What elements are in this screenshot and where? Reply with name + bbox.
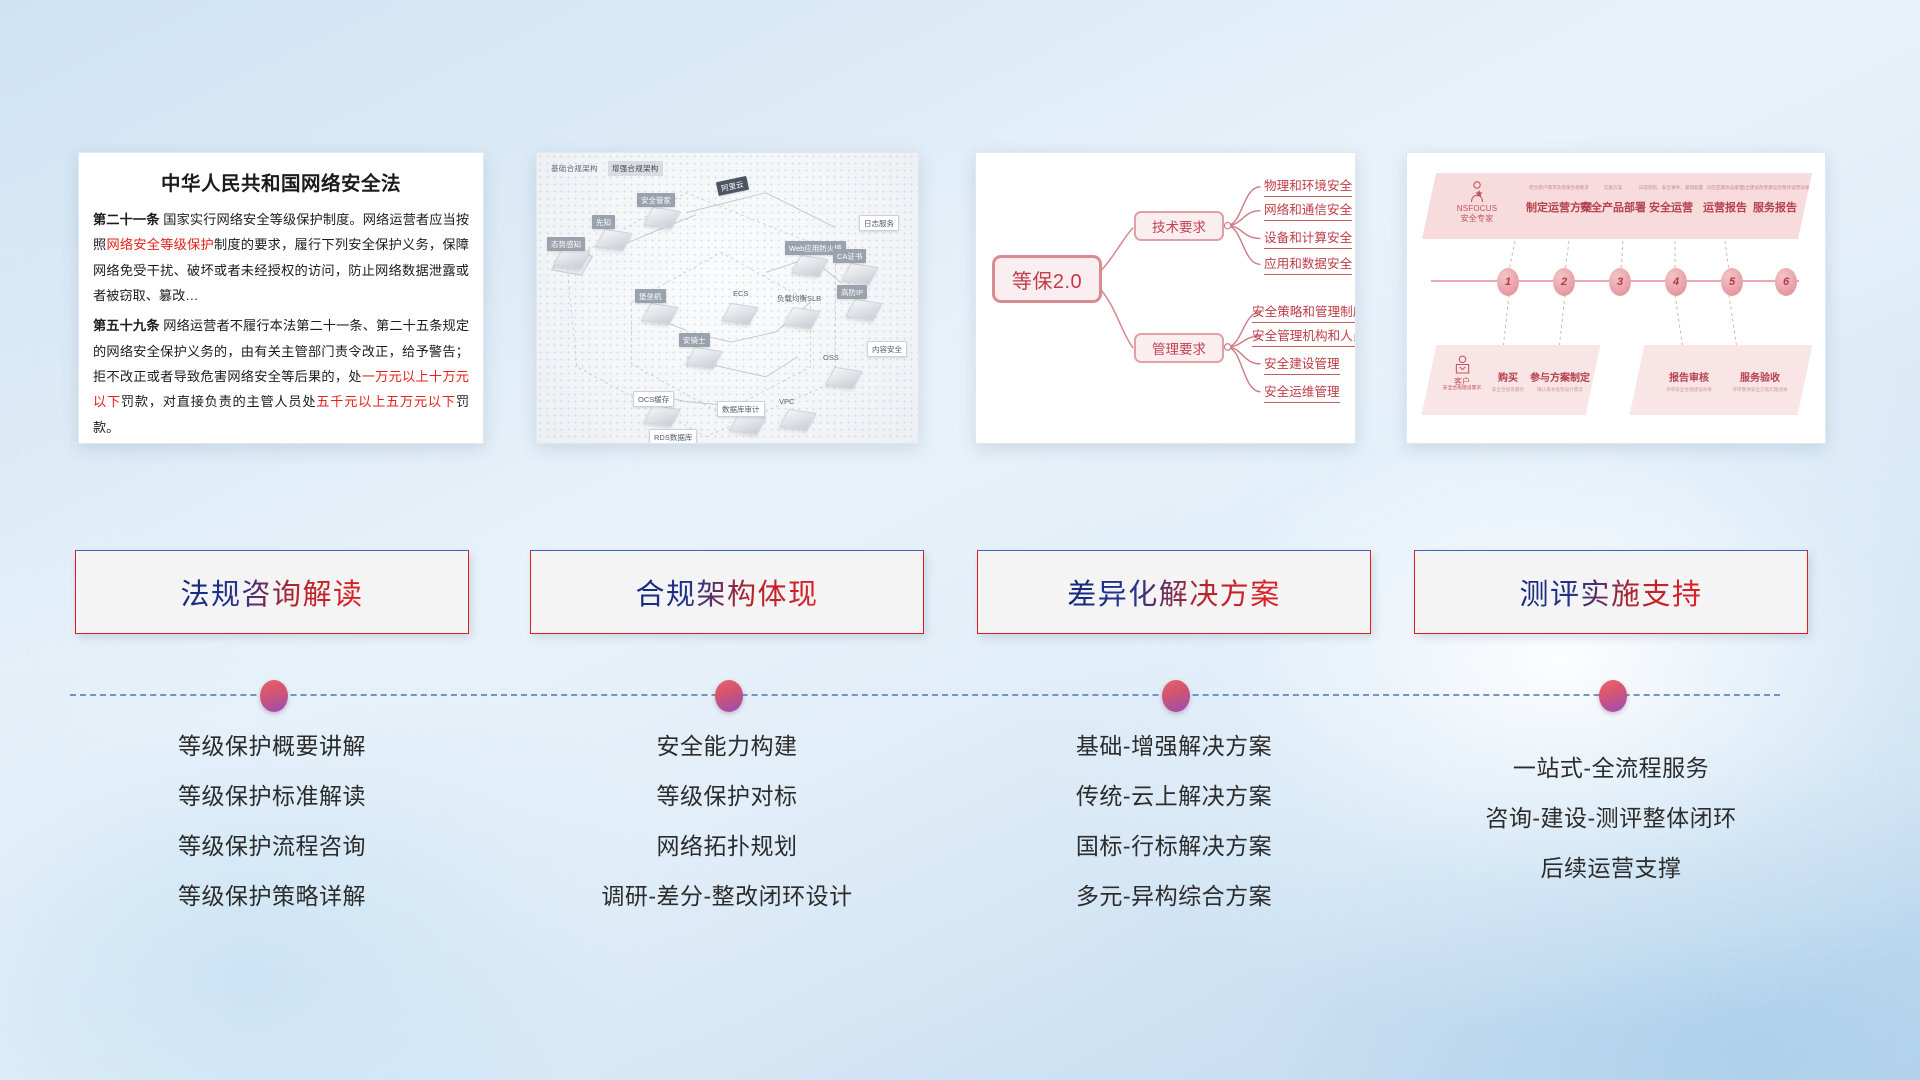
timeline-dot-4[interactable]: [1599, 680, 1627, 712]
list-item: 多元-异构综合方案: [977, 885, 1371, 908]
headline-label-1: 法规咨询解读: [180, 571, 363, 613]
arch-node-xianzhi: 先知: [592, 215, 615, 229]
nsfocus-axis-node-3: 3: [1609, 268, 1631, 296]
detail-column-1: 等级保护概要讲解 等级保护标准解读 等级保护流程咨询 等级保护策略详解: [75, 735, 469, 935]
customer-action-purchase: 购买 安全合规等服务: [1485, 369, 1531, 393]
card-compliance-architecture[interactable]: 基础合规架构 增强合规架构: [536, 152, 919, 444]
list-item: 等级保护概要讲解: [75, 735, 469, 758]
nsfocus-axis-node-5: 5: [1721, 268, 1743, 296]
mindmap-leaf-application-data: 应用和数据安全: [1264, 253, 1352, 275]
customer-label-line1: 客户: [1439, 377, 1485, 387]
law-article-number: 第二十一条: [93, 212, 160, 227]
arch-node-situational-awareness: 态势感知: [547, 237, 585, 251]
mindmap-leaf-security-policy: 安全策略和管理制度: [1252, 301, 1356, 323]
nsfocus-axis-node-2: 2: [1553, 268, 1575, 296]
nsfocus-customer-tray-right: 报告审核 评审安全合规建设效果 服务验收 评审整体安全方案实施效果: [1630, 345, 1813, 415]
headline-label-2: 合规架构体现: [635, 571, 818, 613]
detail-column-4: 一站式-全流程服务 咨询-建设-测评整体闭环 后续运营支撑: [1414, 757, 1808, 907]
mindmap-branch-management: 管理要求: [1134, 333, 1224, 363]
list-item: 后续运营支撑: [1414, 857, 1808, 880]
law-paragraph: 第五十九条 网络运营者不履行本法第二十一条、第二十五条规定的网络安全保护义务的，…: [93, 313, 469, 440]
arch-node-bastion-host: 堡垒机: [635, 289, 666, 303]
mindmap-root-node: 等保2.0: [992, 255, 1102, 303]
poster-canvas: 中华人民共和国网络安全法 第二十一条 国家实行网络安全等级保护制度。网络运营者应…: [0, 0, 1920, 1080]
arch-node-anqishi: 安骑士: [679, 333, 710, 347]
customer-action-plan-participation: 参与方案制定 确认基本框架设计需求: [1529, 369, 1591, 393]
mindmap-branch-technical: 技术要求: [1134, 211, 1224, 241]
list-item: 等级保护流程咨询: [75, 835, 469, 858]
list-item: 传统-云上解决方案: [977, 785, 1371, 808]
mindmap: 等保2.0 技术要求 物理和环境安全 网络和通信安全 设备和计算安全 应用和数据…: [976, 153, 1355, 443]
arch-node-vpc: VPC: [779, 397, 794, 406]
arch-node-slb: 负载均衡SLB: [777, 293, 821, 304]
nsfocus-axis-node-4: 4: [1665, 268, 1687, 296]
customer-action-plan-main: 参与方案制定: [1529, 369, 1591, 384]
screenshot-card-row: 中华人民共和国网络安全法 第二十一条 国家实行网络安全等级保护制度。网络运营者应…: [0, 0, 1920, 460]
mindmap-leaf-device-computing: 设备和计算安全: [1264, 227, 1352, 249]
headline-box-evaluation-support[interactable]: 测评实施支持: [1414, 550, 1808, 634]
customer-action-acceptance-sub: 评审整体安全方案实施效果: [1725, 387, 1795, 393]
customer-action-report-sub: 评审安全合规建设效果: [1659, 387, 1719, 393]
mindmap-leaf-security-org-personnel: 安全管理机构和人员: [1252, 325, 1356, 347]
detail-column-2: 安全能力构建 等级保护对标 网络拓扑规划 调研-差分-整改闭环设计: [530, 735, 924, 935]
customer-action-report-review: 报告审核 评审安全合规建设效果: [1659, 369, 1719, 393]
arch-node-content-security: 内容安全: [867, 341, 907, 357]
headline-box-differentiated-solution[interactable]: 差异化解决方案: [977, 550, 1371, 634]
arch-node-log-service: 日志服务: [859, 215, 899, 231]
law-paragraph: 第二十一条 国家实行网络安全等级保护制度。网络运营者应当按照网络安全等级保护制度…: [93, 207, 469, 308]
arch-node-ecs: ECS: [733, 289, 748, 298]
customer-label-line2: 安全合规建设需求: [1439, 386, 1485, 392]
customer-action-purchase-main: 购买: [1485, 369, 1531, 384]
detail-column-3: 基础-增强解决方案 传统-云上解决方案 国标-行标解决方案 多元-异构综合方案: [977, 735, 1371, 935]
mindmap-leaf-operations-management: 安全运维管理: [1264, 381, 1340, 403]
list-item: 等级保护标准解读: [75, 785, 469, 808]
customer-action-service-acceptance: 服务验收 评审整体安全方案实施效果: [1725, 369, 1795, 393]
nsfocus-axis-node-1: 1: [1497, 268, 1519, 296]
law-seg-highlight: 五千元以上五万元以下: [316, 394, 456, 409]
timeline-dot-3[interactable]: [1162, 680, 1190, 712]
law-seg: 罚款，对直接负责的主管人员处: [121, 394, 316, 409]
mindmap-leaf-physical-environment: 物理和环境安全: [1264, 175, 1352, 197]
list-item: 等级保护策略详解: [75, 885, 469, 908]
list-item: 咨询-建设-测评整体闭环: [1414, 807, 1808, 830]
customer-action-purchase-sub: 安全合规等服务: [1485, 387, 1531, 393]
nsfocus-timeline: NSFOCUS 安全专家 结合客户需求及等保合规要求 制定运营方案 实施方案 安…: [1407, 153, 1825, 443]
headline-box-compliance-architecture[interactable]: 合规架构体现: [530, 550, 924, 634]
customer-role: 客户 安全合规建设需求: [1439, 355, 1485, 392]
law-body: 第二十一条 国家实行网络安全等级保护制度。网络运营者应当按照网络安全等级保护制度…: [79, 207, 483, 440]
timeline-dot-1[interactable]: [260, 680, 288, 712]
mindmap-leaf-network-communication: 网络和通信安全: [1264, 199, 1352, 221]
nsfocus-axis: 1 2 3 4 5 6: [1431, 281, 1803, 283]
mindmap-leaf-construction-management: 安全建设管理: [1264, 353, 1340, 375]
card-dengbao-mindmap[interactable]: 等保2.0 技术要求 物理和环境安全 网络和通信安全 设备和计算安全 应用和数据…: [975, 152, 1356, 444]
card-nsfocus-service-timeline[interactable]: NSFOCUS 安全专家 结合客户需求及等保合规要求 制定运营方案 实施方案 安…: [1406, 152, 1826, 444]
customer-action-report-main: 报告审核: [1659, 369, 1719, 384]
law-title: 中华人民共和国网络安全法: [79, 167, 483, 196]
customer-action-acceptance-main: 服务验收: [1725, 369, 1795, 384]
arch-node-anti-ddos-ip: 高防IP: [837, 285, 867, 299]
headline-label-4: 测评实施支持: [1519, 571, 1702, 613]
customer-action-plan-sub: 确认基本框架设计需求: [1529, 387, 1591, 393]
list-item: 网络拓扑规划: [530, 835, 924, 858]
process-timeline: [70, 694, 1780, 696]
arch-node-database-audit: 数据库审计: [717, 401, 765, 417]
list-item: 调研-差分-整改闭环设计: [530, 885, 924, 908]
headline-label-3: 差异化解决方案: [1067, 571, 1281, 613]
list-item: 一站式-全流程服务: [1414, 757, 1808, 780]
law-article-number: 第五十九条: [93, 318, 160, 333]
law-seg-highlight: 网络安全等级保护: [106, 237, 214, 252]
list-item: 安全能力构建: [530, 735, 924, 758]
headline-box-regulation-consulting[interactable]: 法规咨询解读: [75, 550, 469, 634]
card-cybersecurity-law[interactable]: 中华人民共和国网络安全法 第二十一条 国家实行网络安全等级保护制度。网络运营者应…: [78, 152, 484, 444]
arch-node-oss: OSS: [823, 353, 839, 362]
customer-person-icon: [1454, 355, 1471, 374]
list-item: 基础-增强解决方案: [977, 735, 1371, 758]
arch-node-ca-certificate: CA证书: [833, 249, 866, 263]
nsfocus-axis-node-6: 6: [1775, 268, 1797, 296]
list-item: 国标-行标解决方案: [977, 835, 1371, 858]
arch-node-rds-database: RDS数据库: [649, 429, 697, 444]
timeline-dot-2[interactable]: [715, 680, 743, 712]
nsfocus-customer-tray-left: 客户 安全合规建设需求 购买 安全合规等服务 参与方案制定 确认基本框架设计需求: [1422, 345, 1601, 415]
architecture-diagram: 基础合规架构 增强合规架构: [537, 153, 918, 443]
arch-node-ocs-cache: OCS缓存: [633, 391, 674, 407]
arch-node-security-butler: 安全管家: [637, 193, 675, 207]
list-item: 等级保护对标: [530, 785, 924, 808]
